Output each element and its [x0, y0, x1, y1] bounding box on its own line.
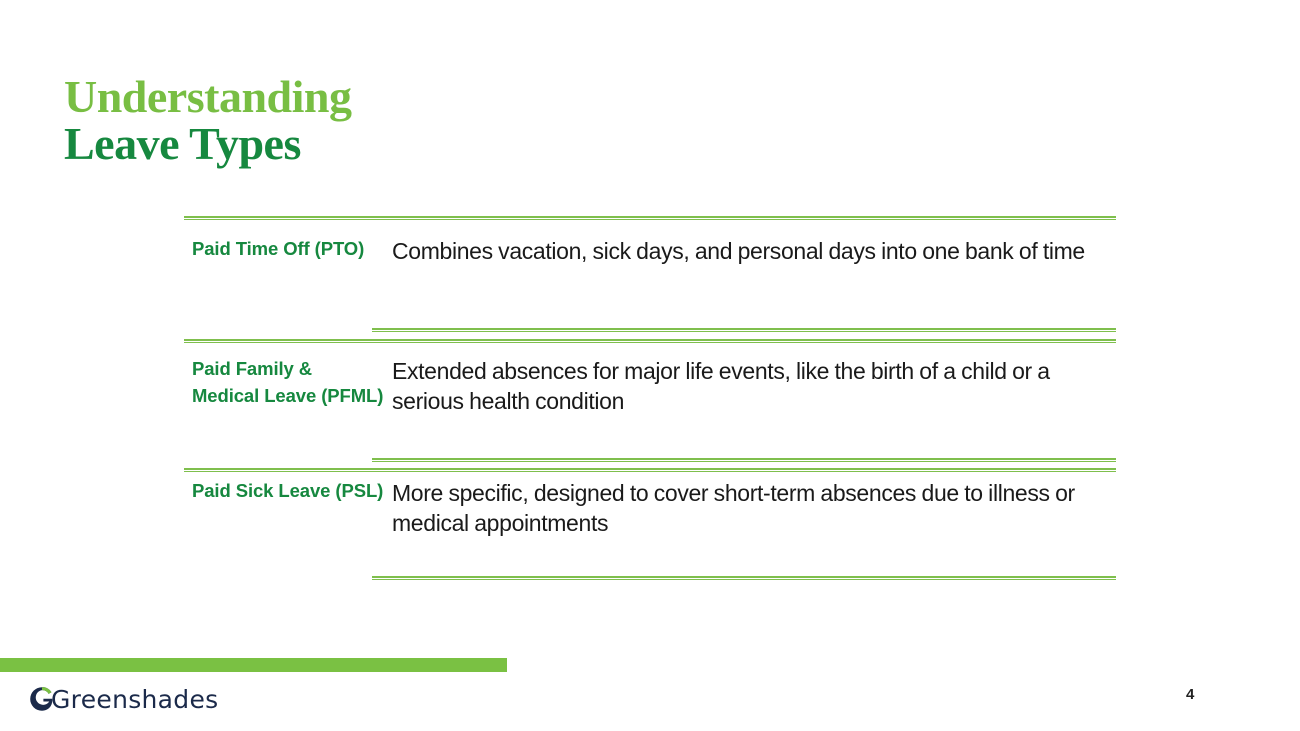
leave-type-label: Paid Family & Medical Leave (PFML) [184, 356, 384, 410]
leave-type-description: Combines vacation, sick days, and person… [384, 236, 1116, 266]
row-separator-full [184, 468, 1116, 472]
row-separator-indent [372, 328, 1116, 332]
page-title-line-2: Leave Types [64, 121, 351, 167]
leave-type-label: Paid Sick Leave (PSL) [184, 478, 384, 505]
table-bottom-rule [372, 576, 1116, 580]
slide: Understanding Leave Types Paid Time Off … [0, 0, 1300, 731]
leave-type-description: More specific, designed to cover short-t… [384, 478, 1116, 539]
table-row: Paid Family & Medical Leave (PFML) Exten… [184, 356, 1116, 417]
table-row: Paid Sick Leave (PSL) More specific, des… [184, 478, 1116, 539]
greenshades-g-icon [30, 686, 54, 712]
row-separator-full [184, 339, 1116, 343]
leave-type-label: Paid Time Off (PTO) [184, 236, 384, 263]
row-separator-indent [372, 458, 1116, 462]
leave-type-description: Extended absences for major life events,… [384, 356, 1116, 417]
greenshades-wordmark: Greenshades [51, 687, 218, 712]
page-title: Understanding Leave Types [64, 74, 351, 167]
table-top-rule [184, 216, 1116, 220]
page-title-line-1: Understanding [64, 74, 351, 120]
table-row: Paid Time Off (PTO) Combines vacation, s… [184, 236, 1116, 266]
footer-accent-bar [0, 658, 507, 672]
page-number: 4 [1186, 686, 1194, 703]
greenshades-logo: Greenshades [30, 684, 218, 714]
